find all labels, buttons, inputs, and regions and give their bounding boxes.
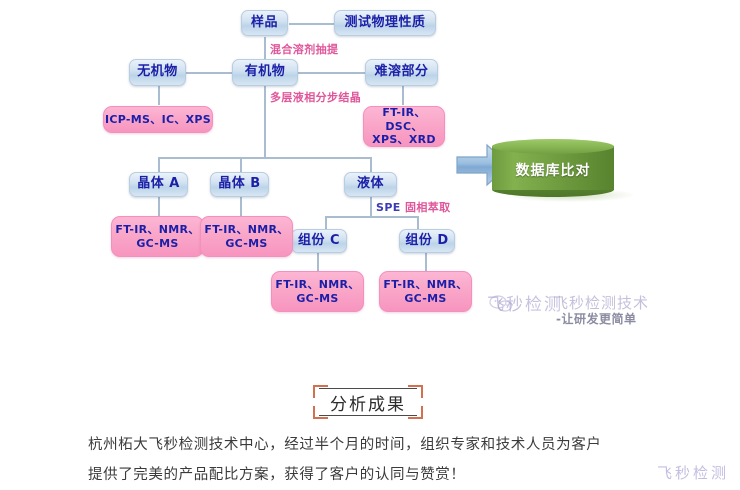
connector-insoluble-to-methods — [402, 86, 404, 105]
node-liquid[interactable]: 液体 — [344, 172, 397, 197]
connector-bus-to-crystal-b — [240, 157, 242, 173]
node-liquid-label: 液体 — [357, 177, 384, 192]
edge-label-solvent-extraction: 混合溶剂抽提 — [270, 41, 338, 57]
methods-component-d[interactable]: FT-IR、NMR、 GC-MS — [379, 271, 472, 312]
result-paragraph-line-2: 提供了完美的产品配比方案，获得了客户的认同与赞赏！ — [88, 460, 658, 490]
edge-label-spe: SPE 固相萃取 — [376, 199, 451, 215]
connector-sample-to-physical-test — [289, 23, 334, 25]
methods-crystal-b[interactable]: FT-IR、NMR、 GC-MS — [200, 216, 293, 257]
node-component-c[interactable]: 组份 C — [291, 229, 347, 253]
node-component-d-label: 组份 D — [405, 234, 448, 249]
node-crystal-a-label: 晶体 A — [137, 177, 180, 192]
edge-label-fractional-crystallization: 多层液相分步结晶 — [270, 89, 361, 105]
methods-crystal-b-line2: GC-MS — [225, 237, 267, 251]
methods-insoluble-line2: XPS、XRD — [372, 133, 436, 147]
methods-component-c[interactable]: FT-IR、NMR、 GC-MS — [271, 271, 364, 312]
methods-crystal-a-line1: FT-IR、NMR、 — [115, 223, 199, 237]
connector-crystal-b-to-methods — [240, 196, 242, 216]
watermark-center-secondary: 飞秒检测技术 — [553, 292, 649, 313]
edge-label-spe-prefix: SPE — [376, 201, 401, 214]
edge-label-spe-text: 固相萃取 — [405, 201, 451, 214]
connector-organic-down — [264, 86, 266, 158]
node-sample[interactable]: 样品 — [241, 10, 288, 36]
methods-crystal-a[interactable]: FT-IR、NMR、 GC-MS — [111, 216, 204, 257]
node-organic-label: 有机物 — [245, 65, 286, 80]
methods-insoluble-line1: FT-IR、DSC、 — [364, 106, 444, 134]
node-insoluble[interactable]: 难溶部分 — [365, 59, 438, 86]
methods-component-d-line1: FT-IR、NMR、 — [383, 278, 467, 292]
node-organic[interactable]: 有机物 — [232, 59, 298, 86]
methods-crystal-a-line2: GC-MS — [136, 237, 178, 251]
node-crystal-a[interactable]: 晶体 A — [129, 172, 188, 197]
node-component-c-label: 组份 C — [298, 234, 340, 249]
wechat-icon — [489, 295, 513, 313]
database-comparison-node[interactable]: 数据库比对 — [492, 139, 614, 197]
connector-branch-bus-crystals — [158, 157, 372, 159]
methods-crystal-b-line1: FT-IR、NMR、 — [204, 223, 288, 237]
result-title-frame: 分析成果 — [313, 385, 423, 419]
node-inorganic-label: 无机物 — [137, 65, 178, 80]
node-crystal-b[interactable]: 晶体 B — [210, 172, 269, 197]
connector-crystal-a-to-methods — [158, 196, 160, 216]
methods-component-c-line2: GC-MS — [296, 292, 338, 306]
connector-inorganic-to-methods — [158, 86, 160, 105]
connector-bus-to-component-c — [325, 216, 327, 229]
methods-inorganic-label: ICP-MS、IC、XPS — [105, 113, 211, 127]
methods-component-d-line2: GC-MS — [404, 292, 446, 306]
node-crystal-b-label: 晶体 B — [218, 177, 260, 192]
connector-component-d-to-methods — [425, 253, 427, 271]
connector-bus-to-liquid — [370, 157, 372, 173]
node-sample-label: 样品 — [251, 16, 278, 31]
connector-bus-to-crystal-a — [158, 157, 160, 173]
methods-component-c-line1: FT-IR、NMR、 — [275, 278, 359, 292]
connector-liquid-down — [370, 196, 372, 216]
watermark-bottom-right: 飞秒检测 — [657, 462, 729, 483]
connector-component-c-to-methods — [317, 253, 319, 271]
result-paragraph: 杭州柘大飞秒检测技术中心，经过半个月的时间，组织专家和技术人员为客户 提供了完美… — [88, 430, 658, 490]
database-label: 数据库比对 — [492, 153, 614, 187]
node-component-d[interactable]: 组份 D — [399, 229, 455, 253]
connector-branch-bus-components — [325, 216, 417, 218]
methods-insoluble[interactable]: FT-IR、DSC、 XPS、XRD — [363, 106, 445, 147]
connector-bus-to-component-d — [417, 216, 419, 229]
flowchart-canvas: 样品 测试物理性质 无机物 有机物 难溶部分 晶体 A 晶体 B 液体 组份 C… — [0, 0, 740, 490]
database-top-ellipse — [492, 139, 614, 154]
node-physical-test[interactable]: 测试物理性质 — [334, 10, 436, 36]
node-inorganic[interactable]: 无机物 — [129, 59, 186, 86]
result-paragraph-line-1: 杭州柘大飞秒检测技术中心，经过半个月的时间，组织专家和技术人员为客户 — [88, 430, 658, 460]
node-insoluble-label: 难溶部分 — [374, 65, 428, 80]
result-title-text: 分析成果 — [313, 385, 423, 419]
node-physical-test-label: 测试物理性质 — [344, 16, 425, 31]
methods-inorganic[interactable]: ICP-MS、IC、XPS — [103, 106, 213, 133]
connector-organic-to-insoluble — [297, 72, 365, 74]
connector-inorganic-to-organic — [185, 72, 232, 74]
watermark-center-tagline: -让研发更简单 — [556, 310, 636, 327]
